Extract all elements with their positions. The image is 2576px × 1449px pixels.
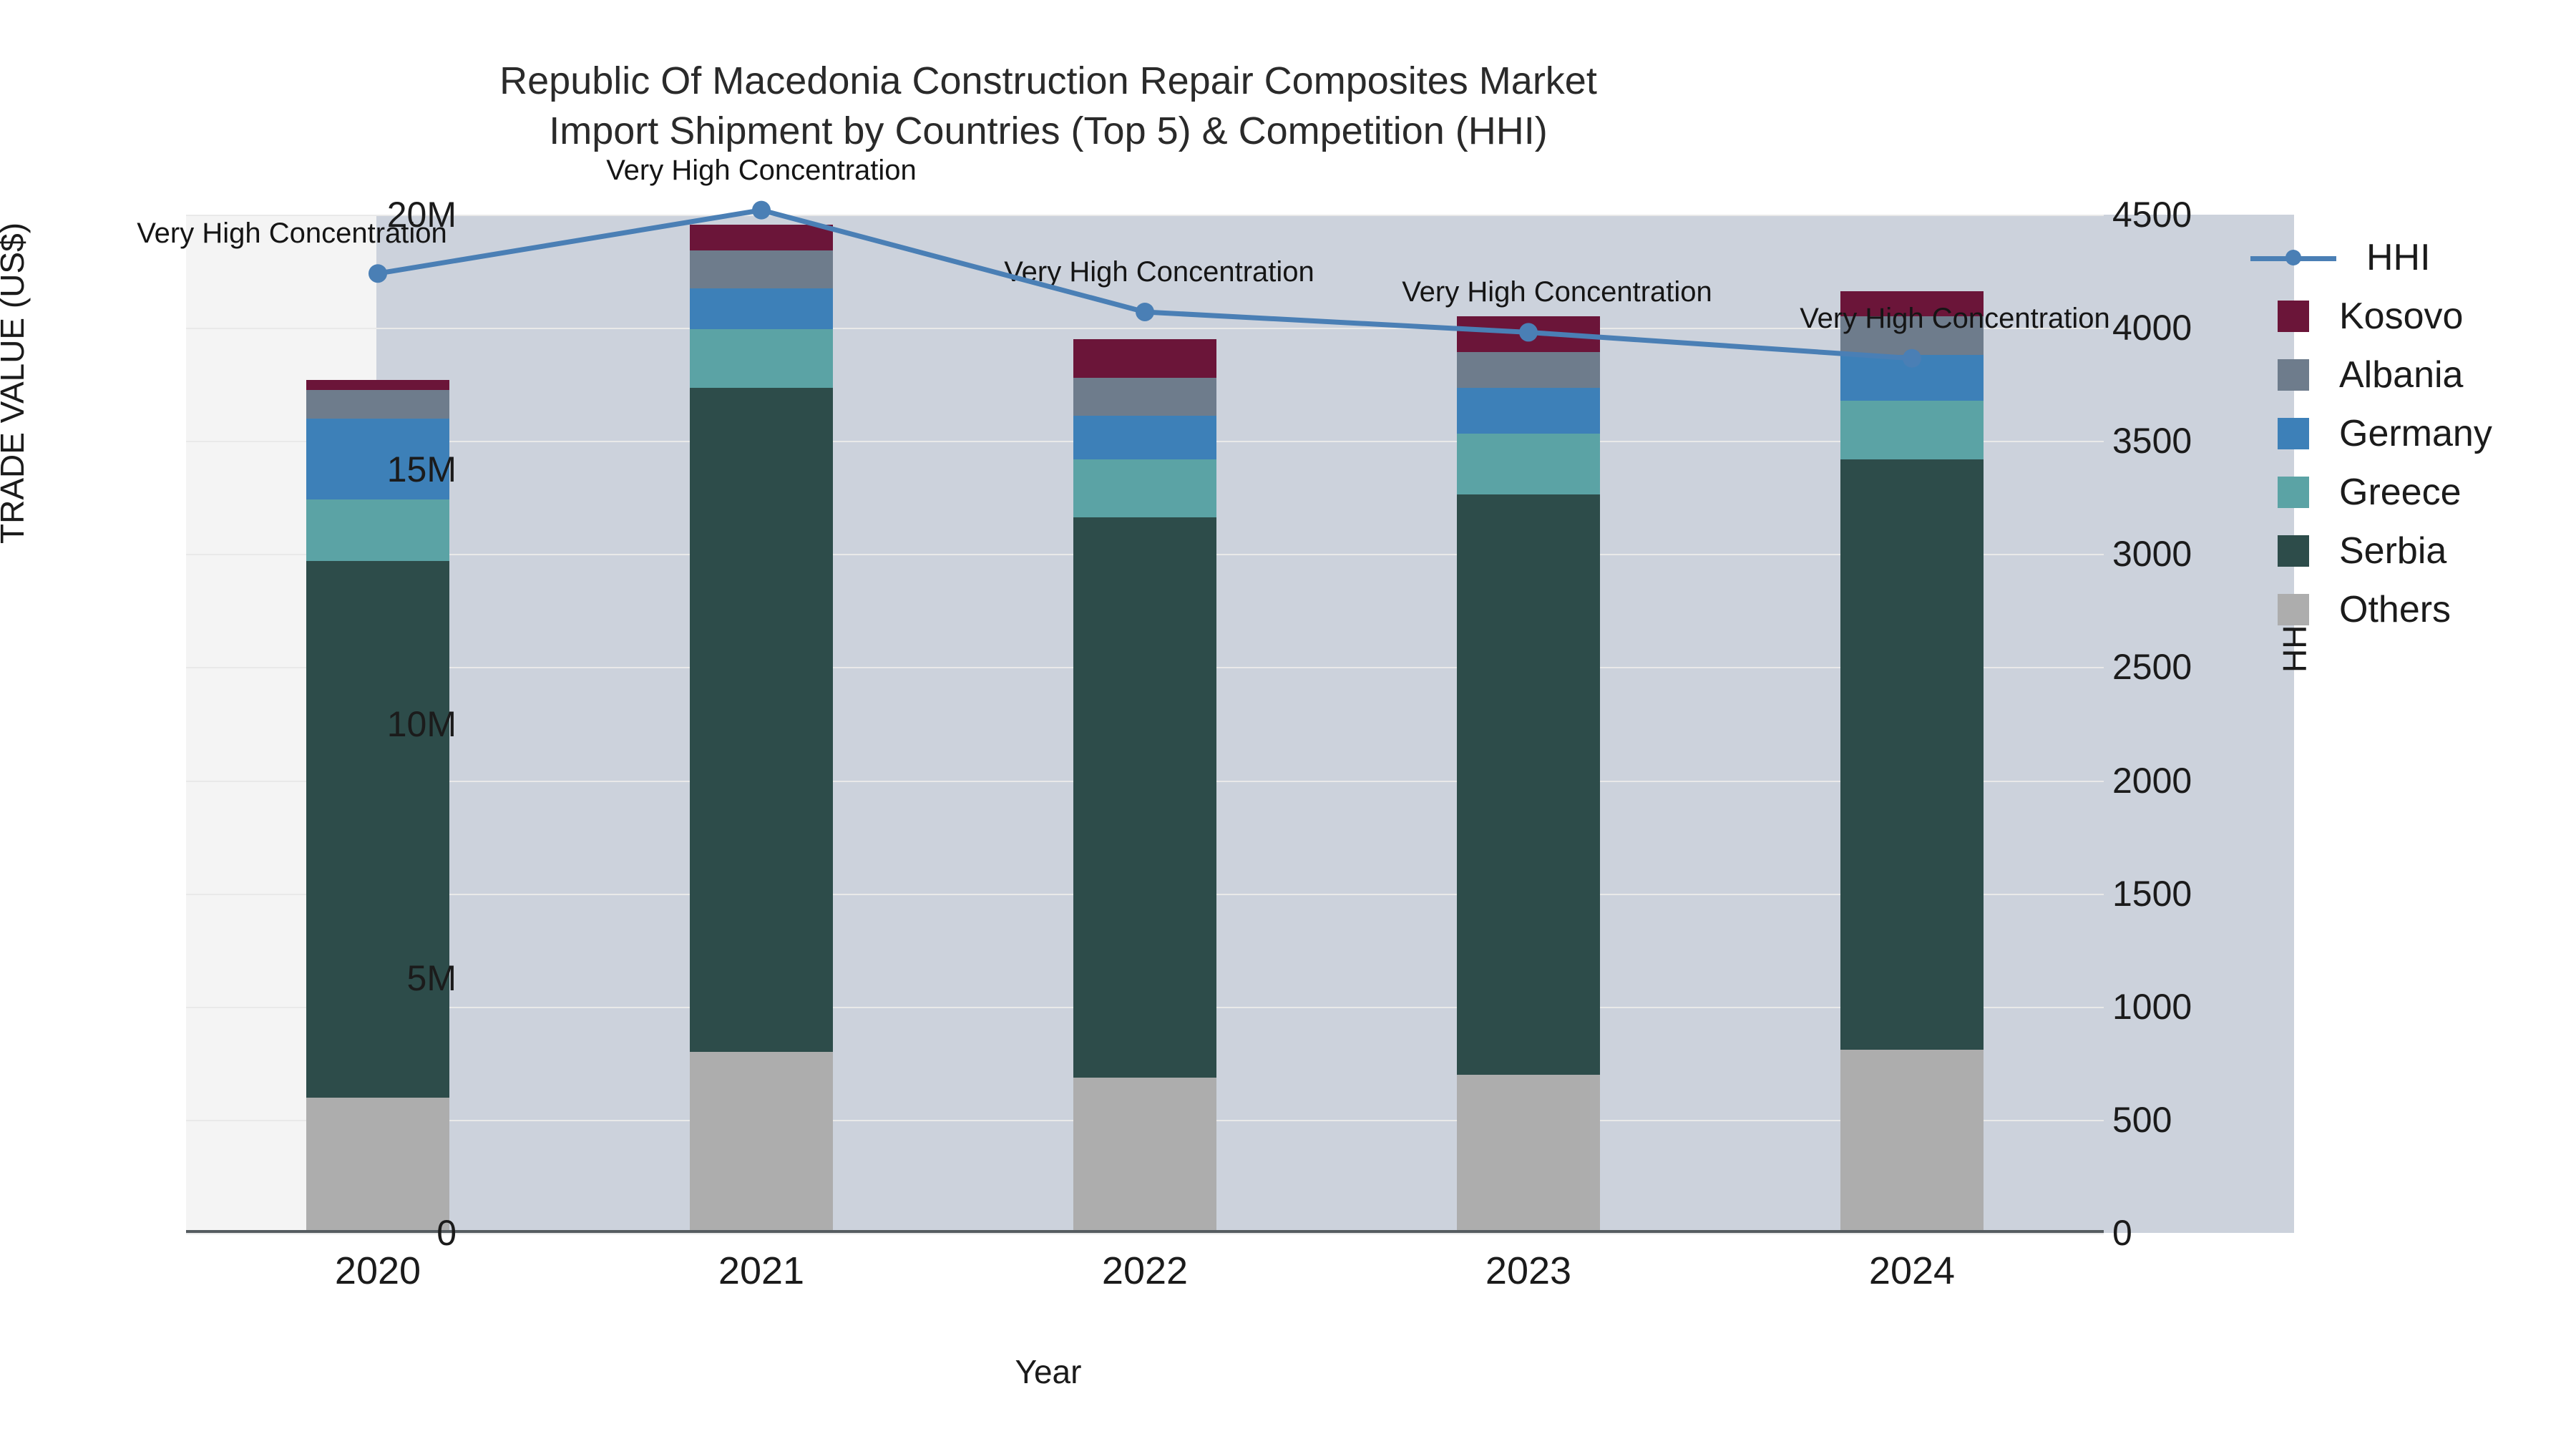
bar-segment-serbia[interactable] [1073, 517, 1216, 1078]
legend-item-serbia[interactable]: Serbia [2250, 530, 2492, 572]
legend-item-hhi[interactable]: HHI [2250, 236, 2492, 279]
legend-swatch-icon [2278, 418, 2309, 449]
legend-swatch-icon [2278, 477, 2309, 508]
bar-segment-others[interactable] [1073, 1078, 1216, 1233]
x-axis-label: Year [0, 1352, 2097, 1391]
legend-swatch-icon [2278, 594, 2309, 625]
bar-segment-albania[interactable] [690, 250, 833, 288]
plot-area [186, 215, 2104, 1233]
stacked-bar[interactable] [1457, 316, 1600, 1233]
annotation-2024: Very High Concentration [1800, 303, 2110, 335]
bar-segment-albania[interactable] [1457, 352, 1600, 388]
bar-segment-serbia[interactable] [306, 561, 449, 1098]
legend-label: HHI [2366, 236, 2431, 279]
y-tick-left: 10M [387, 703, 457, 745]
bar-segment-greece[interactable] [690, 329, 833, 388]
stacked-bar[interactable] [1073, 339, 1216, 1233]
legend-item-kosovo[interactable]: Kosovo [2250, 295, 2492, 338]
stacked-bar[interactable] [306, 380, 449, 1233]
legend-label: Greece [2339, 471, 2462, 514]
y-tick-left: 5M [407, 957, 457, 999]
y-tick-right: 0 [2112, 1212, 2132, 1254]
x-tick-2021: 2021 [618, 1249, 904, 1293]
annotation-2023: Very High Concentration [1402, 276, 1712, 308]
legend-swatch-icon [2278, 359, 2309, 391]
y-tick-right: 2500 [2112, 646, 2192, 688]
legend-swatch-icon [2278, 301, 2309, 332]
y-tick-right: 3000 [2112, 533, 2192, 575]
y-axis-label-left: TRADE VALUE (US$) [0, 223, 31, 544]
legend-label: Others [2339, 588, 2451, 631]
y-tick-right: 1000 [2112, 986, 2192, 1028]
bar-segment-serbia[interactable] [690, 388, 833, 1053]
gridline [186, 1233, 2104, 1234]
x-tick-2022: 2022 [1002, 1249, 1288, 1293]
legend-item-germany[interactable]: Germany [2250, 412, 2492, 455]
y-tick-left: 0 [436, 1212, 457, 1254]
bar-segment-others[interactable] [690, 1052, 833, 1233]
annotation-2022: Very High Concentration [1004, 256, 1314, 288]
bar-segment-kosovo[interactable] [1457, 316, 1600, 352]
bar-segment-kosovo[interactable] [1073, 339, 1216, 377]
bar-segment-greece[interactable] [306, 499, 449, 560]
y-tick-right: 3500 [2112, 420, 2192, 462]
bar-segment-germany[interactable] [1840, 355, 1984, 401]
y-tick-right: 4000 [2112, 307, 2192, 348]
legend-item-others[interactable]: Others [2250, 588, 2492, 631]
legend-item-greece[interactable]: Greece [2250, 471, 2492, 514]
gridline [186, 215, 2104, 216]
bar-segment-greece[interactable] [1073, 459, 1216, 518]
bar-segment-greece[interactable] [1840, 401, 1984, 459]
legend-label: Germany [2339, 412, 2492, 455]
stacked-bar[interactable] [690, 225, 833, 1233]
bar-segment-germany[interactable] [1457, 388, 1600, 434]
legend-line-icon [2250, 242, 2336, 273]
bar-segment-albania[interactable] [1073, 378, 1216, 416]
y-tick-right: 4500 [2112, 194, 2192, 235]
bar-segment-others[interactable] [306, 1098, 449, 1233]
y-tick-right: 1500 [2112, 873, 2192, 914]
bar-segment-albania[interactable] [306, 390, 449, 418]
legend: HHIKosovoAlbaniaGermanyGreeceSerbiaOther… [2250, 236, 2492, 631]
bar-segment-germany[interactable] [690, 288, 833, 329]
axis-zero-line [186, 1230, 2104, 1233]
annotation-2020: Very High Concentration [137, 218, 447, 250]
bar-segment-germany[interactable] [1073, 416, 1216, 459]
legend-item-albania[interactable]: Albania [2250, 353, 2492, 396]
x-tick-2023: 2023 [1385, 1249, 1672, 1293]
legend-label: Serbia [2339, 530, 2446, 572]
bar-segment-others[interactable] [1840, 1050, 1984, 1233]
stacked-bar[interactable] [1840, 291, 1984, 1233]
y-tick-right: 500 [2112, 1099, 2172, 1141]
x-tick-2024: 2024 [1769, 1249, 2055, 1293]
bar-segment-greece[interactable] [1457, 434, 1600, 494]
bar-segment-kosovo[interactable] [306, 380, 449, 390]
annotation-2021: Very High Concentration [606, 155, 917, 187]
legend-label: Kosovo [2339, 295, 2463, 338]
legend-label: Albania [2339, 353, 2463, 396]
x-tick-2020: 2020 [235, 1249, 521, 1293]
bar-segment-serbia[interactable] [1457, 494, 1600, 1075]
y-tick-left: 15M [387, 449, 457, 490]
legend-swatch-icon [2278, 535, 2309, 567]
bar-segment-serbia[interactable] [1840, 459, 1984, 1050]
bar-segment-kosovo[interactable] [690, 225, 833, 250]
page-title: Republic Of Macedonia Construction Repai… [0, 56, 2097, 156]
bar-segment-others[interactable] [1457, 1075, 1600, 1233]
y-tick-right: 2000 [2112, 760, 2192, 801]
